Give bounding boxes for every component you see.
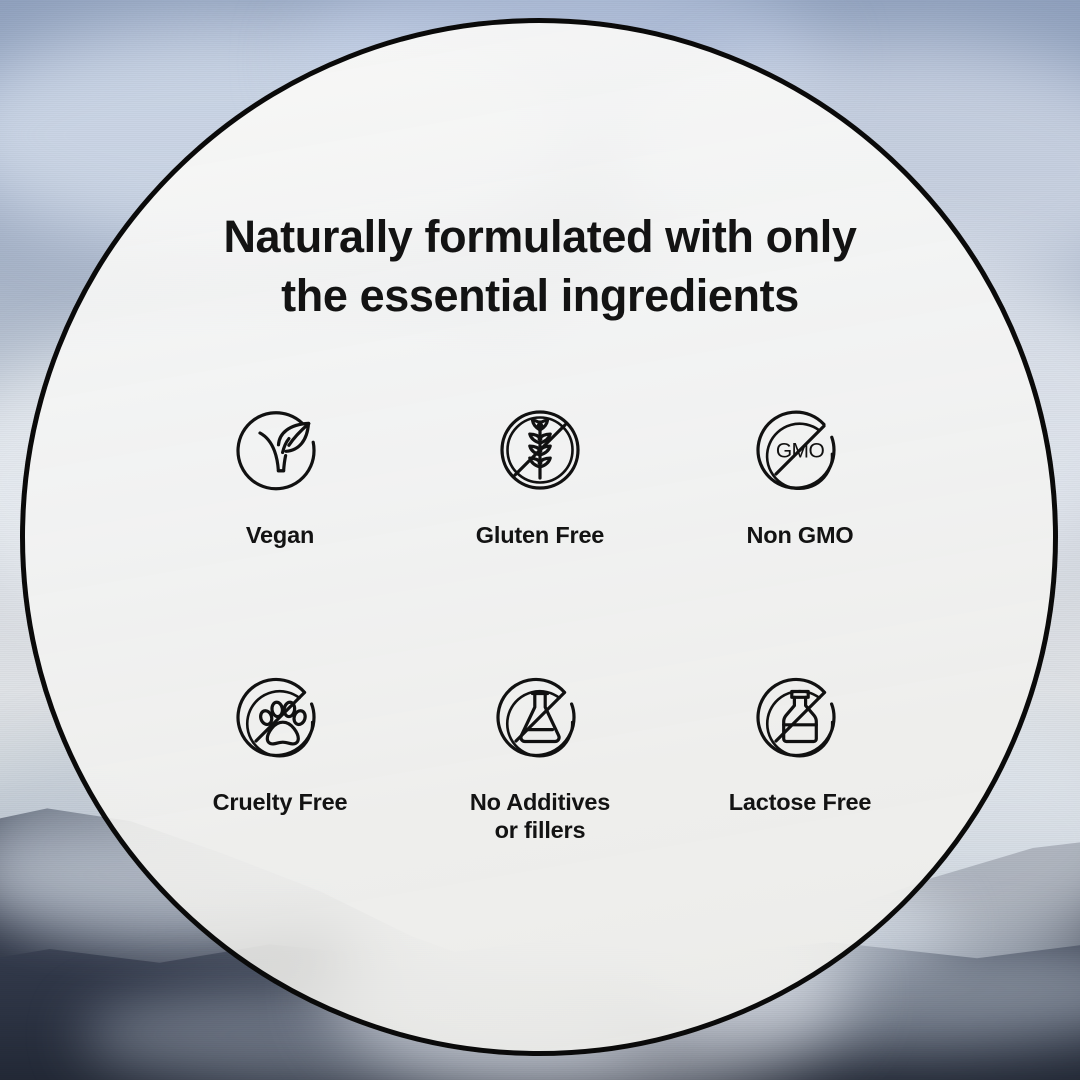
claim-label-line-1: Vegan <box>246 522 314 548</box>
claim-badge-no-additives: No Additives or fillers <box>410 667 670 844</box>
claim-label: Non GMO <box>747 521 854 549</box>
claim-label: Lactose Free <box>729 788 872 816</box>
claim-label-line-1: Lactose Free <box>729 789 872 815</box>
claim-badge-vegan: Vegan <box>150 400 410 549</box>
claim-label-line-2: or fillers <box>470 816 610 844</box>
claim-badge-non-gmo: GMO Non GMO <box>670 400 930 549</box>
claim-label-line-1: Cruelty Free <box>213 789 348 815</box>
claim-label: Gluten Free <box>476 521 604 549</box>
claim-label: Vegan <box>246 521 314 549</box>
paw-crossed-icon <box>230 667 330 767</box>
claim-label-line-1: No Additives <box>470 789 610 815</box>
flask-crossed-icon <box>490 667 590 767</box>
headline-line-2: the essential ingredients <box>140 267 940 326</box>
claim-label: Cruelty Free <box>213 788 348 816</box>
claim-label: No Additives or fillers <box>470 788 610 844</box>
gmo-crossed-icon: GMO <box>750 400 850 500</box>
page-title: Naturally formulated with only the essen… <box>140 208 940 325</box>
claims-grid: Vegan <box>150 400 930 845</box>
product-claims-graphic: Naturally formulated with only the essen… <box>0 0 1080 1080</box>
claim-label-line-1: Non GMO <box>747 522 854 548</box>
headline-line-1: Naturally formulated with only <box>223 211 856 262</box>
claim-badge-lactose-free: Lactose Free <box>670 667 930 844</box>
wheat-crossed-icon <box>490 400 590 500</box>
claim-label-line-1: Gluten Free <box>476 522 604 548</box>
svg-text:GMO: GMO <box>776 440 825 463</box>
claim-badge-cruelty-free: Cruelty Free <box>150 667 410 844</box>
milk-bottle-crossed-icon <box>750 667 850 767</box>
vegan-leaf-icon <box>230 400 330 500</box>
claim-badge-gluten-free: Gluten Free <box>410 400 670 549</box>
